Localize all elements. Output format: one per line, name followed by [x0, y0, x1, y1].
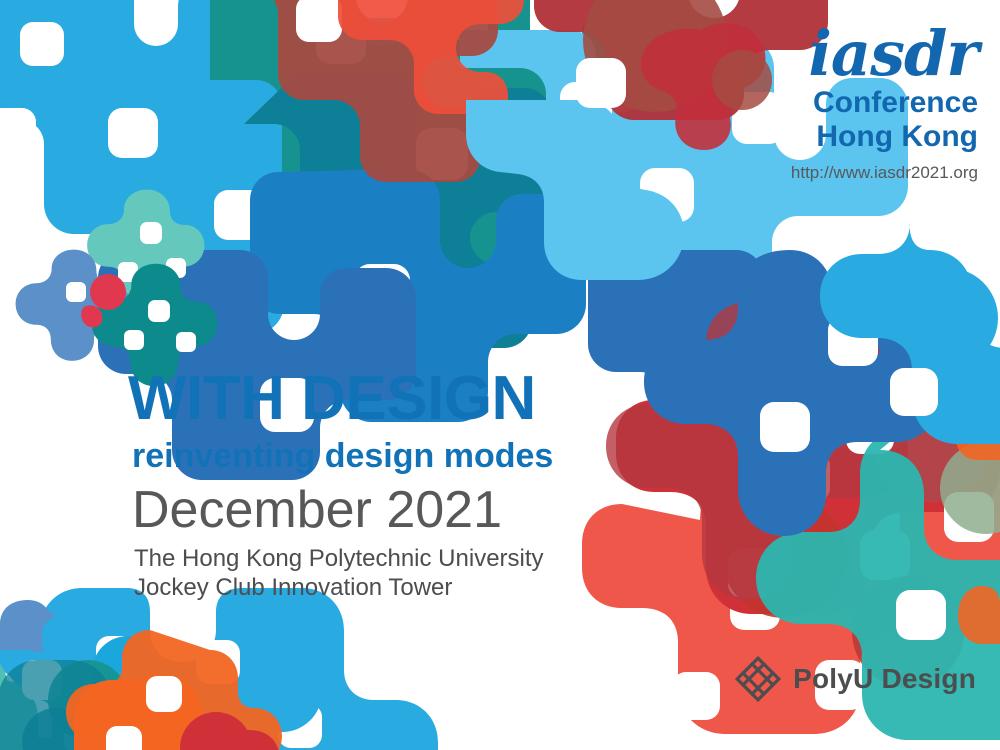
polyu-design-label: PolyU Design	[793, 664, 976, 694]
polyu-design-logo: PolyU Design	[735, 656, 976, 702]
conference-poster: iasdr Conference Hong Kong http://www.ia…	[0, 0, 1000, 750]
conference-website-url[interactable]: http://www.iasdr2021.org	[722, 162, 978, 184]
venue-line-2: Jockey Club Innovation Tower	[134, 573, 648, 602]
page-title: WITH DESIGN	[128, 368, 648, 430]
cluster-bottom-left	[0, 588, 438, 750]
iasdr-brand-block: iasdr Conference Hong Kong http://www.ia…	[722, 22, 982, 184]
venue-line-1: The Hong Kong Polytechnic University	[134, 544, 648, 573]
poster-subtitle: reinventing design modes	[132, 436, 648, 476]
iasdr-conference-label: Conference	[722, 86, 978, 120]
event-date: December 2021	[132, 482, 648, 538]
poster-text-block: WITH DESIGN reinventing design modes Dec…	[128, 368, 648, 602]
iasdr-wordmark: iasdr	[722, 22, 978, 86]
cluster-mid-left-small	[16, 190, 218, 386]
polyu-knot-icon	[735, 656, 781, 702]
iasdr-location-label: Hong Kong	[722, 120, 978, 154]
